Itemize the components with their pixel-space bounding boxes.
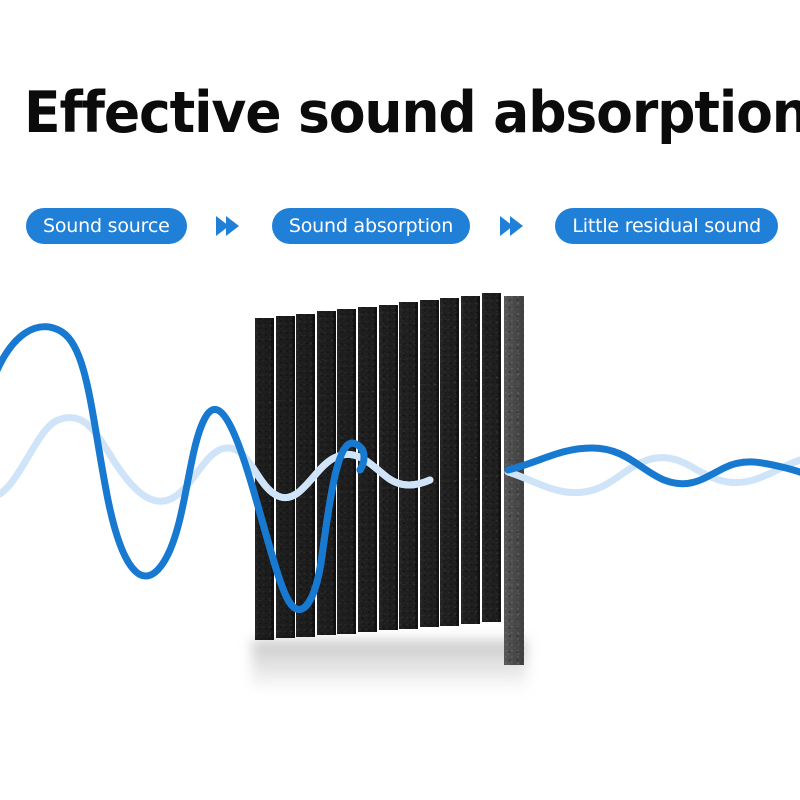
foam-wedge-strip	[482, 293, 501, 622]
foam-wedge-strip	[337, 309, 356, 634]
chevron-right-icon	[226, 216, 239, 236]
high-amplitude-sound-wave-right	[508, 448, 800, 484]
double-chevron-right-icon	[219, 216, 239, 236]
acoustic-foam-wedge-panel[interactable]	[255, 290, 515, 675]
chevron-right-icon	[510, 216, 523, 236]
foam-wedge-strip	[276, 316, 295, 639]
double-chevron-right-icon	[503, 216, 523, 236]
attenuated-residual-sound-wave-right	[508, 458, 800, 493]
badge-sound-absorption[interactable]: Sound absorption	[272, 208, 470, 244]
badge-sound-absorption-label: Sound absorption	[289, 215, 453, 237]
infographic-page: Effective sound absorption Sound source …	[0, 0, 800, 800]
badge-little-residual-sound[interactable]: Little residual sound	[555, 208, 778, 244]
badge-little-residual-sound-label: Little residual sound	[572, 215, 761, 237]
panel-side-face	[504, 296, 524, 665]
foam-wedge-strip	[420, 300, 439, 627]
foam-wedge-strip	[461, 296, 480, 625]
badge-sound-source[interactable]: Sound source	[26, 208, 187, 244]
foam-wedge-strip	[317, 311, 336, 635]
foam-wedge-strip	[379, 305, 398, 631]
foam-wedge-strip	[399, 302, 418, 629]
page-title: Effective sound absorption	[24, 82, 776, 144]
foam-wedge-strip	[296, 314, 315, 637]
foam-wedge-strip	[358, 307, 377, 632]
process-badge-row: Sound source Sound absorption Little res…	[26, 205, 778, 247]
foam-wedge-strip	[255, 318, 274, 640]
badge-sound-source-label: Sound source	[43, 215, 170, 237]
foam-wedge-strip	[440, 298, 459, 626]
